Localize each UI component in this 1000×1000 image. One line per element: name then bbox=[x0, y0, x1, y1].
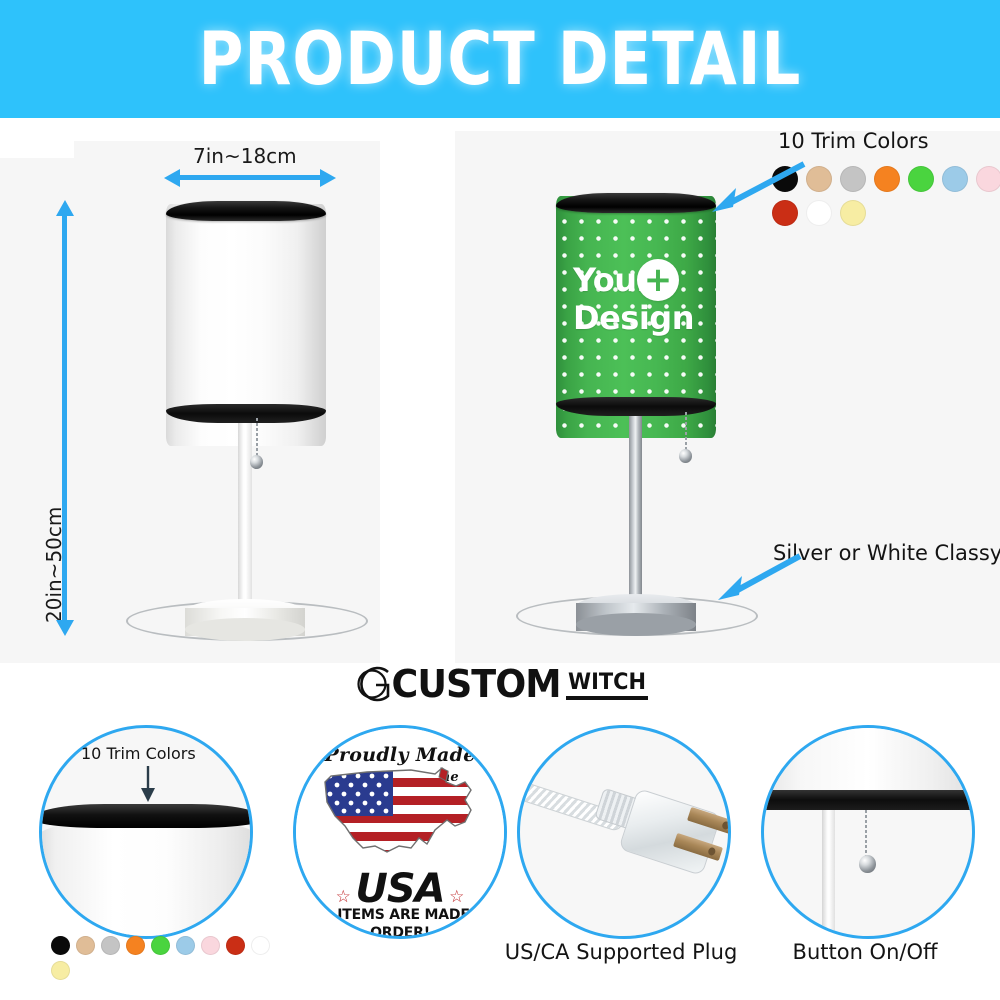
trim-swatch-orange[interactable] bbox=[126, 936, 145, 955]
star-left-icon: ☆ bbox=[336, 887, 351, 906]
trim-swatch-pink[interactable] bbox=[201, 936, 220, 955]
brand-underline bbox=[566, 696, 648, 700]
trim-swatch-green[interactable] bbox=[151, 936, 170, 955]
plug-caption: US/CA Supported Plug bbox=[501, 940, 741, 964]
usa-map-flag-icon bbox=[315, 760, 487, 868]
width-arrow-head-left bbox=[164, 169, 180, 187]
usa-badge: Proudly Made in the bbox=[296, 728, 504, 936]
height-arrow-line bbox=[62, 214, 67, 622]
brand-name-secondary: WITCH bbox=[568, 672, 646, 694]
trim-ring-top bbox=[556, 193, 716, 213]
width-arrow-line bbox=[180, 175, 320, 180]
brand-c-icon bbox=[352, 664, 392, 704]
trim-swatch-red[interactable] bbox=[226, 936, 245, 955]
trim-swatch-gray[interactable] bbox=[840, 166, 866, 192]
brand-secondary-wrap: WITCH bbox=[566, 672, 648, 700]
trim-swatch-white[interactable] bbox=[251, 936, 270, 955]
lamp-pole-preview bbox=[822, 810, 835, 939]
trim-swatch-gray[interactable] bbox=[101, 936, 120, 955]
usa-subtitle-line: ALL ITEMS ARE MADE TO ORDER! bbox=[296, 906, 504, 939]
pull-chain-ball[interactable] bbox=[679, 449, 692, 463]
pull-chain[interactable] bbox=[685, 412, 687, 452]
trim-swatch-yellow[interactable] bbox=[51, 961, 70, 980]
base-bottom bbox=[576, 613, 696, 636]
feature-circle-plug bbox=[517, 725, 731, 939]
feature-circle-made-in-usa: Proudly Made in the bbox=[293, 725, 507, 939]
page-title: PRODUCT DETAIL bbox=[199, 17, 802, 102]
trim-swatch-light-blue[interactable] bbox=[942, 166, 968, 192]
trim-swatch-tan[interactable] bbox=[76, 936, 95, 955]
usa-subtitle-text: ALL ITEMS ARE MADE TO ORDER! bbox=[305, 907, 496, 939]
height-arrow-head-up bbox=[56, 200, 74, 216]
lamp-pole-silver bbox=[629, 412, 642, 612]
trim-ring-bottom bbox=[166, 404, 326, 423]
base-bottom bbox=[185, 618, 305, 641]
trim-colors-inner-label: 10 Trim Colors bbox=[81, 744, 196, 763]
switch-caption: Button On/Off bbox=[745, 940, 985, 964]
trim-colors-swatch-grid-bottom bbox=[51, 936, 271, 980]
lamp-base-silver bbox=[576, 594, 696, 636]
add-design-icon[interactable]: + bbox=[637, 259, 679, 301]
lamp-pole-white bbox=[238, 418, 252, 618]
trim-ring-top bbox=[166, 201, 326, 221]
trim-ring-preview bbox=[761, 790, 975, 810]
pull-chain-ball[interactable] bbox=[250, 455, 263, 469]
base-finish-arrow bbox=[700, 548, 810, 608]
trim-swatch-black[interactable] bbox=[51, 936, 70, 955]
trim-colors-down-arrow bbox=[136, 764, 160, 804]
brand-name-primary: CUSTOM bbox=[392, 662, 561, 706]
trim-swatch-green[interactable] bbox=[908, 166, 934, 192]
trim-colors-title: 10 Trim Colors bbox=[778, 129, 929, 153]
trim-swatch-light-blue[interactable] bbox=[176, 936, 195, 955]
height-arrow-head-down bbox=[56, 620, 74, 636]
trim-swatch-pink[interactable] bbox=[976, 166, 1000, 192]
design-placeholder-line2: Design bbox=[573, 302, 694, 335]
trim-swatch-yellow[interactable] bbox=[840, 200, 866, 226]
shade-bottom-preview bbox=[761, 725, 975, 796]
brand-logo: CUSTOM WITCH bbox=[0, 660, 1000, 708]
pull-chain-ball-preview[interactable] bbox=[859, 855, 876, 873]
star-right-icon: ☆ bbox=[449, 887, 464, 906]
width-arrow-head-right bbox=[320, 169, 336, 187]
width-dimension-label: 7in~18cm bbox=[193, 144, 297, 168]
shade-preview-trim bbox=[39, 804, 253, 828]
plus-glyph: + bbox=[644, 265, 673, 295]
shade-preview-body bbox=[39, 816, 253, 939]
feature-highlights: 10 Trim Colors Proudly Made in the bbox=[0, 708, 1000, 1000]
header-banner: PRODUCT DETAIL bbox=[0, 0, 1000, 118]
pull-chain[interactable] bbox=[256, 418, 258, 458]
pull-chain-preview[interactable] bbox=[865, 810, 867, 858]
trim-swatch-orange[interactable] bbox=[874, 166, 900, 192]
product-detail-page: PRODUCT DETAIL 20in~50cm 7in~18cm bbox=[0, 0, 1000, 1000]
plug-body bbox=[618, 788, 721, 876]
feature-circle-switch bbox=[761, 725, 975, 939]
lamp-base-white bbox=[185, 599, 305, 641]
trim-ring-bottom bbox=[556, 397, 716, 416]
main-showcase-panel: 20in~50cm 7in~18cm bbox=[0, 118, 1000, 663]
